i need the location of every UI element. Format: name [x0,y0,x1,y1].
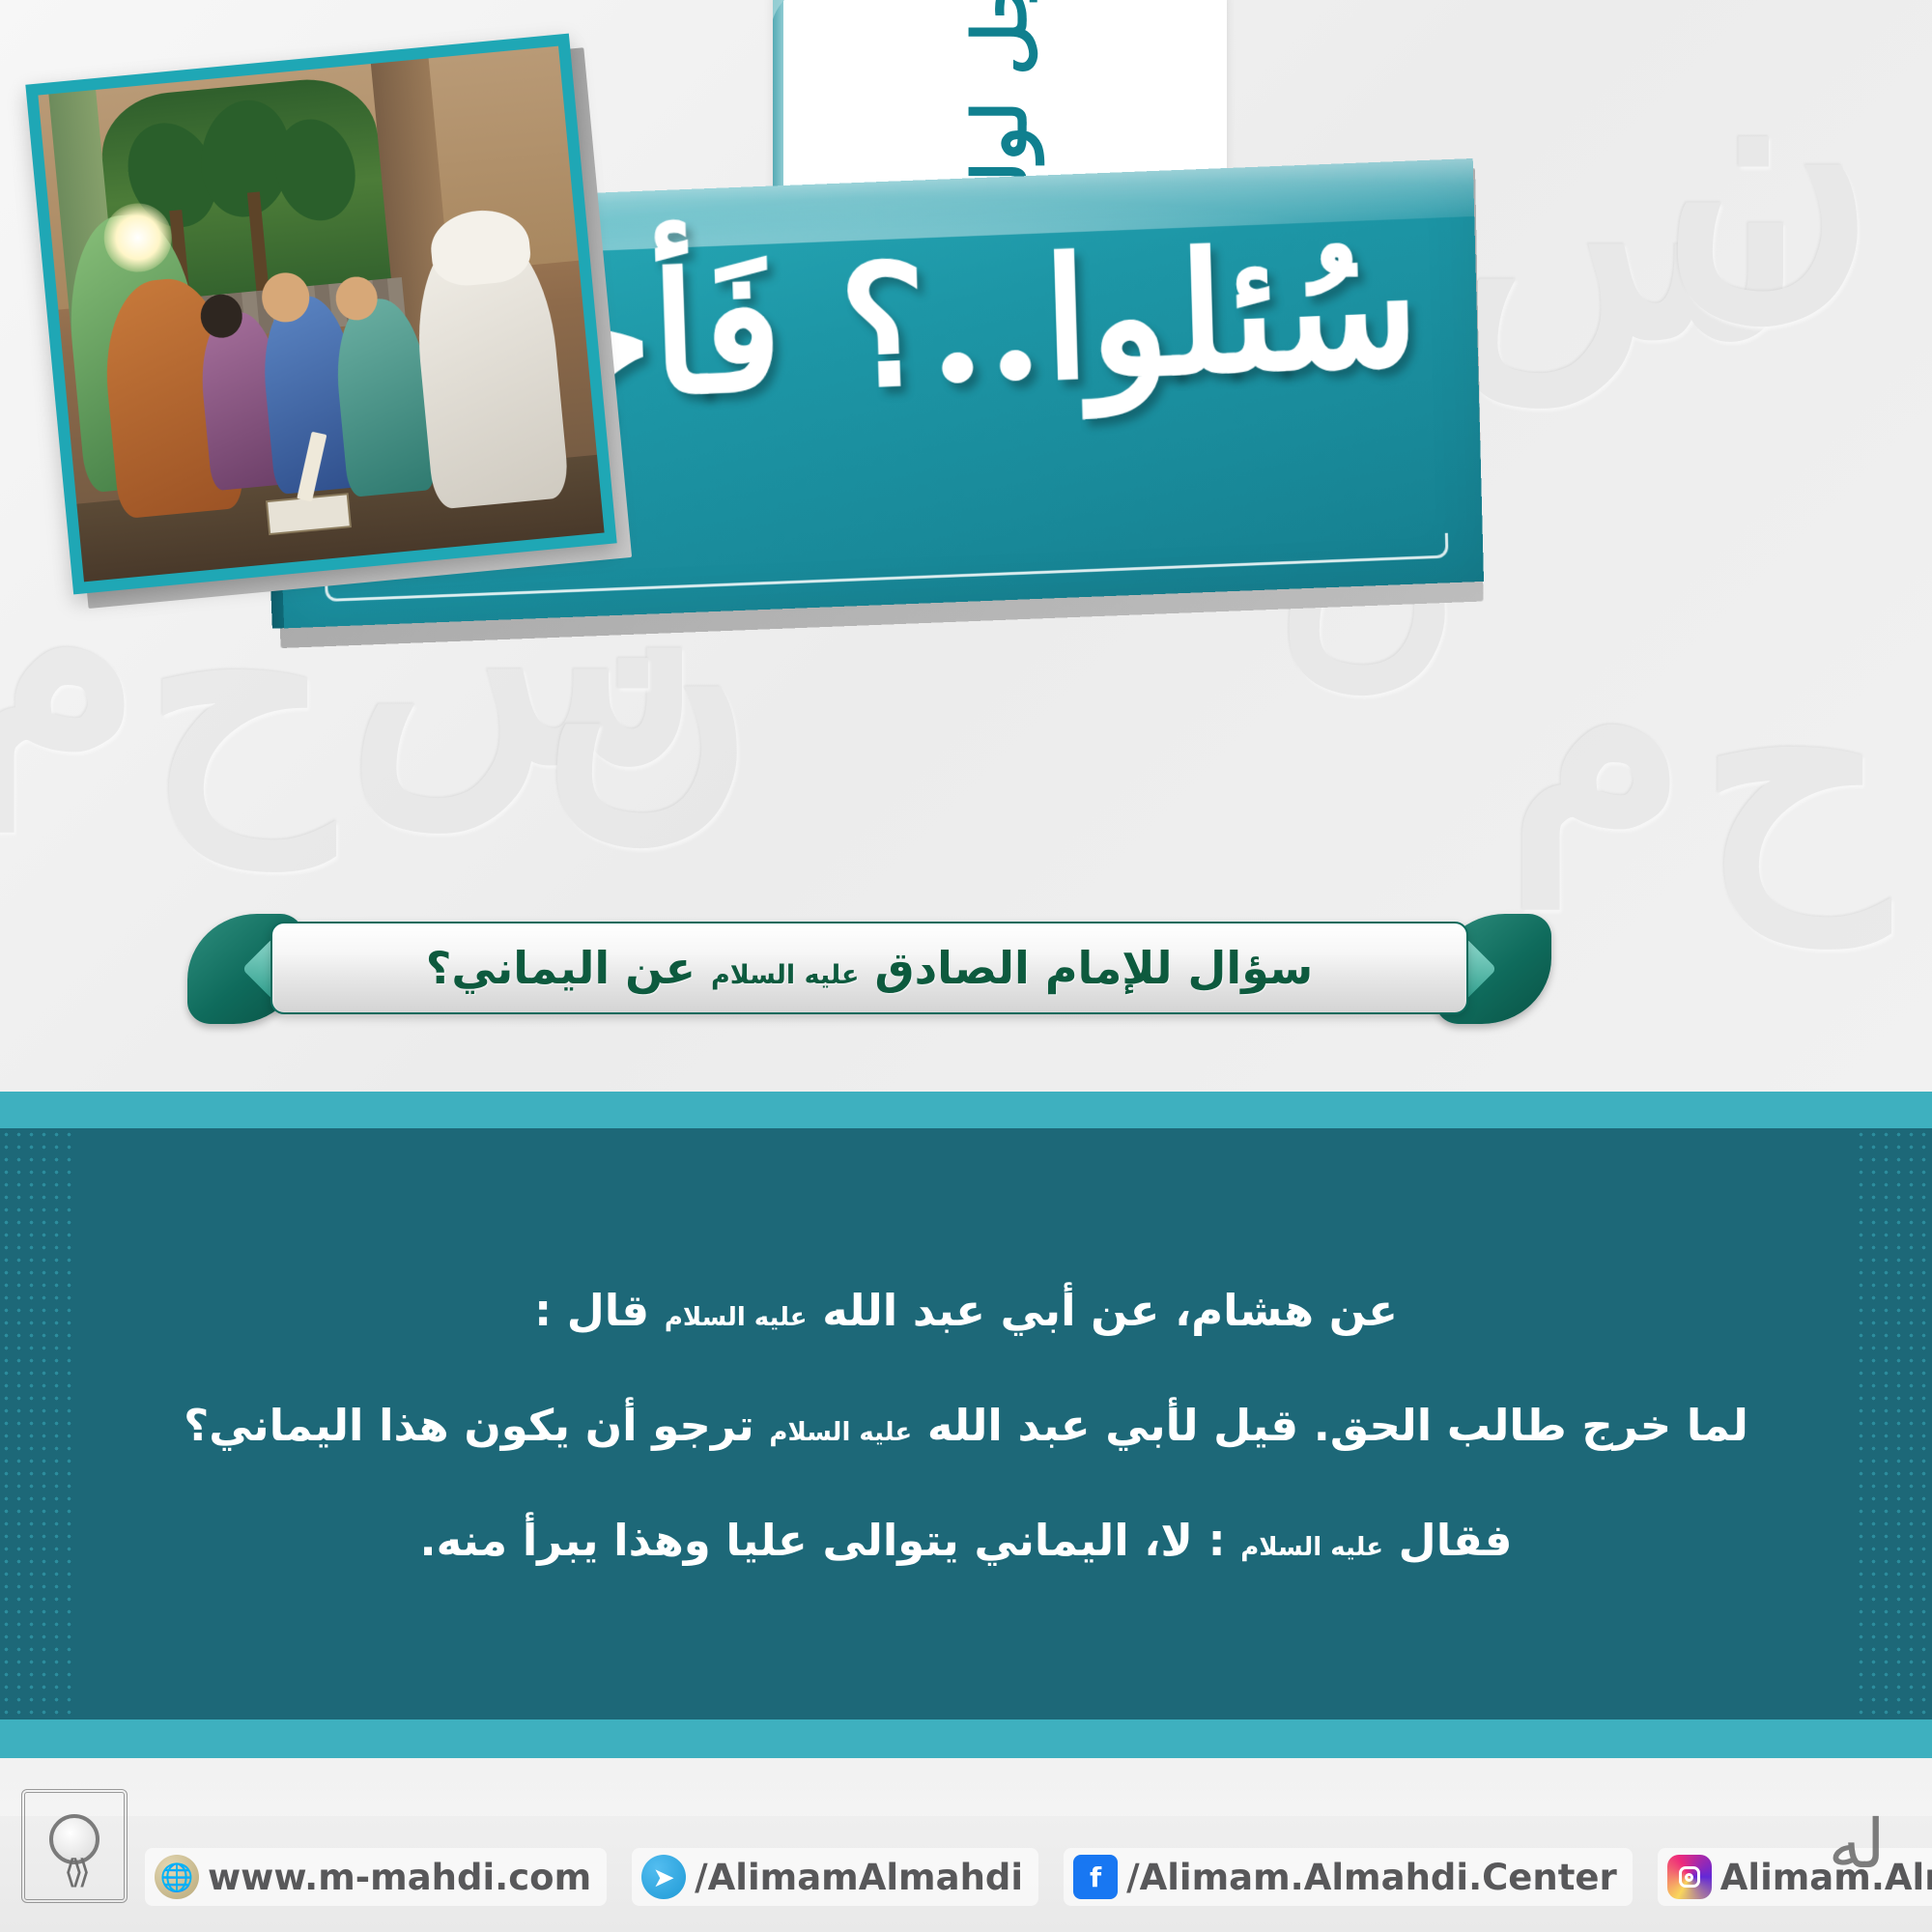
question-text: سؤال للإمام الصادق عليه السلام عن اليمان… [426,942,1314,994]
poster-root: م ح س ن ح س ن م ح ح ن ح س ن م ح س اللهم … [0,0,1932,1932]
photo-image [38,46,604,582]
calligraphy-ornament-icon: له [1799,1781,1915,1907]
hadith-line-salutation: عليه السلام [665,1303,808,1332]
question-salutation: عليه السلام [711,960,859,990]
hadith-line-before: عن هشام، عن أبي عبد الله [822,1285,1398,1336]
hadith-line: فقال عليه السلام : لا، اليماني يتوالى عل… [106,1515,1826,1566]
hadith-text-block: عن هشام، عن أبي عبد الله عليه السلام قال… [106,1150,1826,1700]
social-link-website[interactable]: 🌐 www.m-mahdi.com [145,1848,607,1906]
hadith-line-after: : لا، اليماني يتوالى عليا وهذا يبرأ منه. [420,1515,1226,1566]
hadith-line: لما خرج طالب الحق. قيل لأبي عبد الله علي… [106,1400,1826,1451]
social-link-facebook[interactable]: f /Alimam.Almahdi.Center [1064,1848,1633,1906]
facebook-icon: f [1073,1855,1118,1899]
question-capsule: سؤال للإمام الصادق عليه السلام عن اليمان… [193,908,1546,1029]
hadith-line-before: فقال [1399,1515,1513,1566]
hadith-line-salutation: عليه السلام [769,1418,912,1447]
hadith-line-salutation: عليه السلام [1240,1533,1383,1562]
photo-frame [25,34,616,595]
telegram-label: /AlimamAlmahdi [695,1857,1023,1898]
panel-top-strip [0,1092,1932,1128]
footer-fade [0,1758,1932,1816]
question-text-after: عن اليماني؟ [426,942,696,994]
hadith-line-after: ترجو أن يكون هذا اليماني؟ [184,1400,754,1451]
globe-icon: 🌐 [155,1855,199,1899]
panel-left-dot-pattern [0,1128,77,1719]
footer: ⟨⟨⟩ 🌐 www.m-mahdi.com ➤ /AlimamAlmahdi f… [0,1758,1932,1932]
website-label: www.m-mahdi.com [208,1857,591,1898]
hadith-line-before: لما خرج طالب الحق. قيل لأبي عبد الله [927,1400,1748,1451]
telegram-icon: ➤ [641,1855,686,1899]
panel-right-dot-pattern [1855,1128,1932,1719]
social-links-bar: 🌐 www.m-mahdi.com ➤ /AlimamAlmahdi f /Al… [145,1839,1816,1915]
social-link-telegram[interactable]: ➤ /AlimamAlmahdi [632,1848,1038,1906]
facebook-label: /Alimam.Almahdi.Center [1126,1857,1617,1898]
hadith-panel: عن هشام، عن أبي عبد الله عليه السلام قال… [0,1092,1932,1758]
hadith-line: عن هشام، عن أبي عبد الله عليه السلام قال… [106,1285,1826,1336]
question-text-before: سؤال للإمام الصادق [874,942,1313,994]
capsule-bar: سؤال للإمام الصادق عليه السلام عن اليمان… [270,922,1468,1014]
panel-bottom-strip [0,1719,1932,1758]
instagram-icon [1667,1855,1712,1899]
hadith-line-after: قال : [534,1285,649,1336]
seal-ornament-icon: ⟨⟨⟩ [21,1789,128,1903]
plate-arc-decoration [773,0,904,120]
illustration-photo [25,34,616,595]
